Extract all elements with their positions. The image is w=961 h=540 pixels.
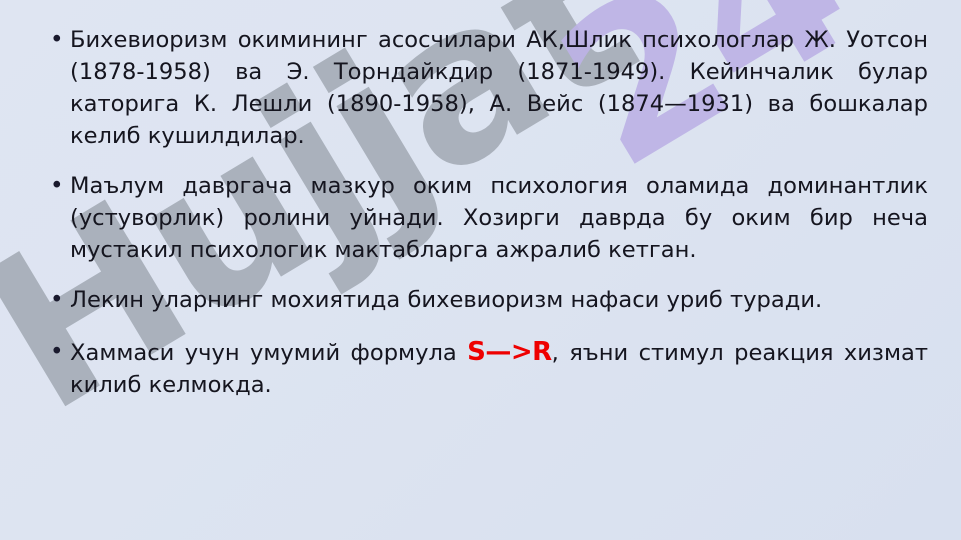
- bullet-paragraph-3: Лекин уларнинг мохиятида бихевиоризм наф…: [70, 284, 928, 316]
- list-item: • Маълум давргача мазкур оким психология…: [44, 170, 928, 266]
- bullet-marker-icon: •: [44, 284, 70, 316]
- slide-body-text: • Бихевиоризм окимининг асосчилари АК,Шл…: [44, 24, 928, 401]
- bullet-paragraph-2: Маълум давргача мазкур оким психология о…: [70, 170, 928, 266]
- list-item: • Бихевиоризм окимининг асосчилари АК,Шл…: [44, 24, 928, 152]
- list-item: • Лекин уларнинг мохиятида бихевиоризм н…: [44, 284, 928, 316]
- paragraph-4-text-before: Хаммаси учун умумий формула: [70, 340, 467, 366]
- bullet-marker-icon: •: [44, 24, 70, 56]
- list-item: • Хаммаси учун умумий формула S—>R, яъни…: [44, 336, 928, 401]
- stimulus-response-formula: S—>R: [467, 337, 552, 367]
- bullet-paragraph-1: Бихевиоризм окимининг асосчилари АК,Шлик…: [70, 24, 928, 152]
- bullet-marker-icon: •: [44, 170, 70, 202]
- slide-canvas: Hujjat 24 • Бихевиоризм окимининг асосчи…: [0, 0, 961, 540]
- bullet-paragraph-4: Хаммаси учун умумий формула S—>R, яъни с…: [70, 336, 928, 401]
- bullet-marker-icon: •: [44, 336, 70, 368]
